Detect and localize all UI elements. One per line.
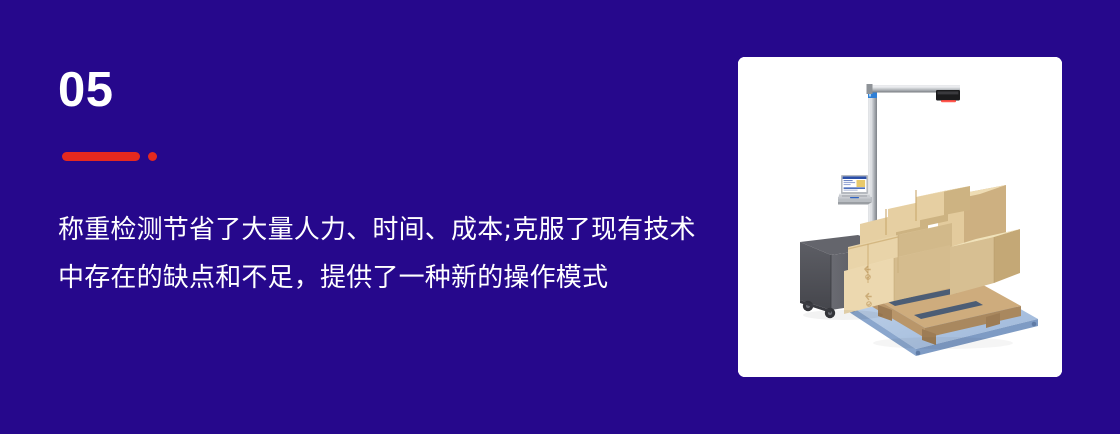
- image-card: [738, 57, 1062, 377]
- slide-root: 05 称重检测节省了大量人力、时间、成本;克服了现有技术中存在的缺点和不足，提供…: [0, 0, 1120, 434]
- accent-bar-icon: [62, 152, 140, 161]
- page-title: 05: [58, 66, 698, 118]
- divider: [62, 151, 157, 161]
- product-photo: [738, 57, 1062, 377]
- body-paragraph: 称重检测节省了大量人力、时间、成本;克服了现有技术中存在的缺点和不足，提供了一种…: [58, 206, 698, 302]
- accent-dot-icon: [148, 152, 157, 161]
- content-column: 05 称重检测节省了大量人力、时间、成本;克服了现有技术中存在的缺点和不足，提供…: [58, 66, 698, 118]
